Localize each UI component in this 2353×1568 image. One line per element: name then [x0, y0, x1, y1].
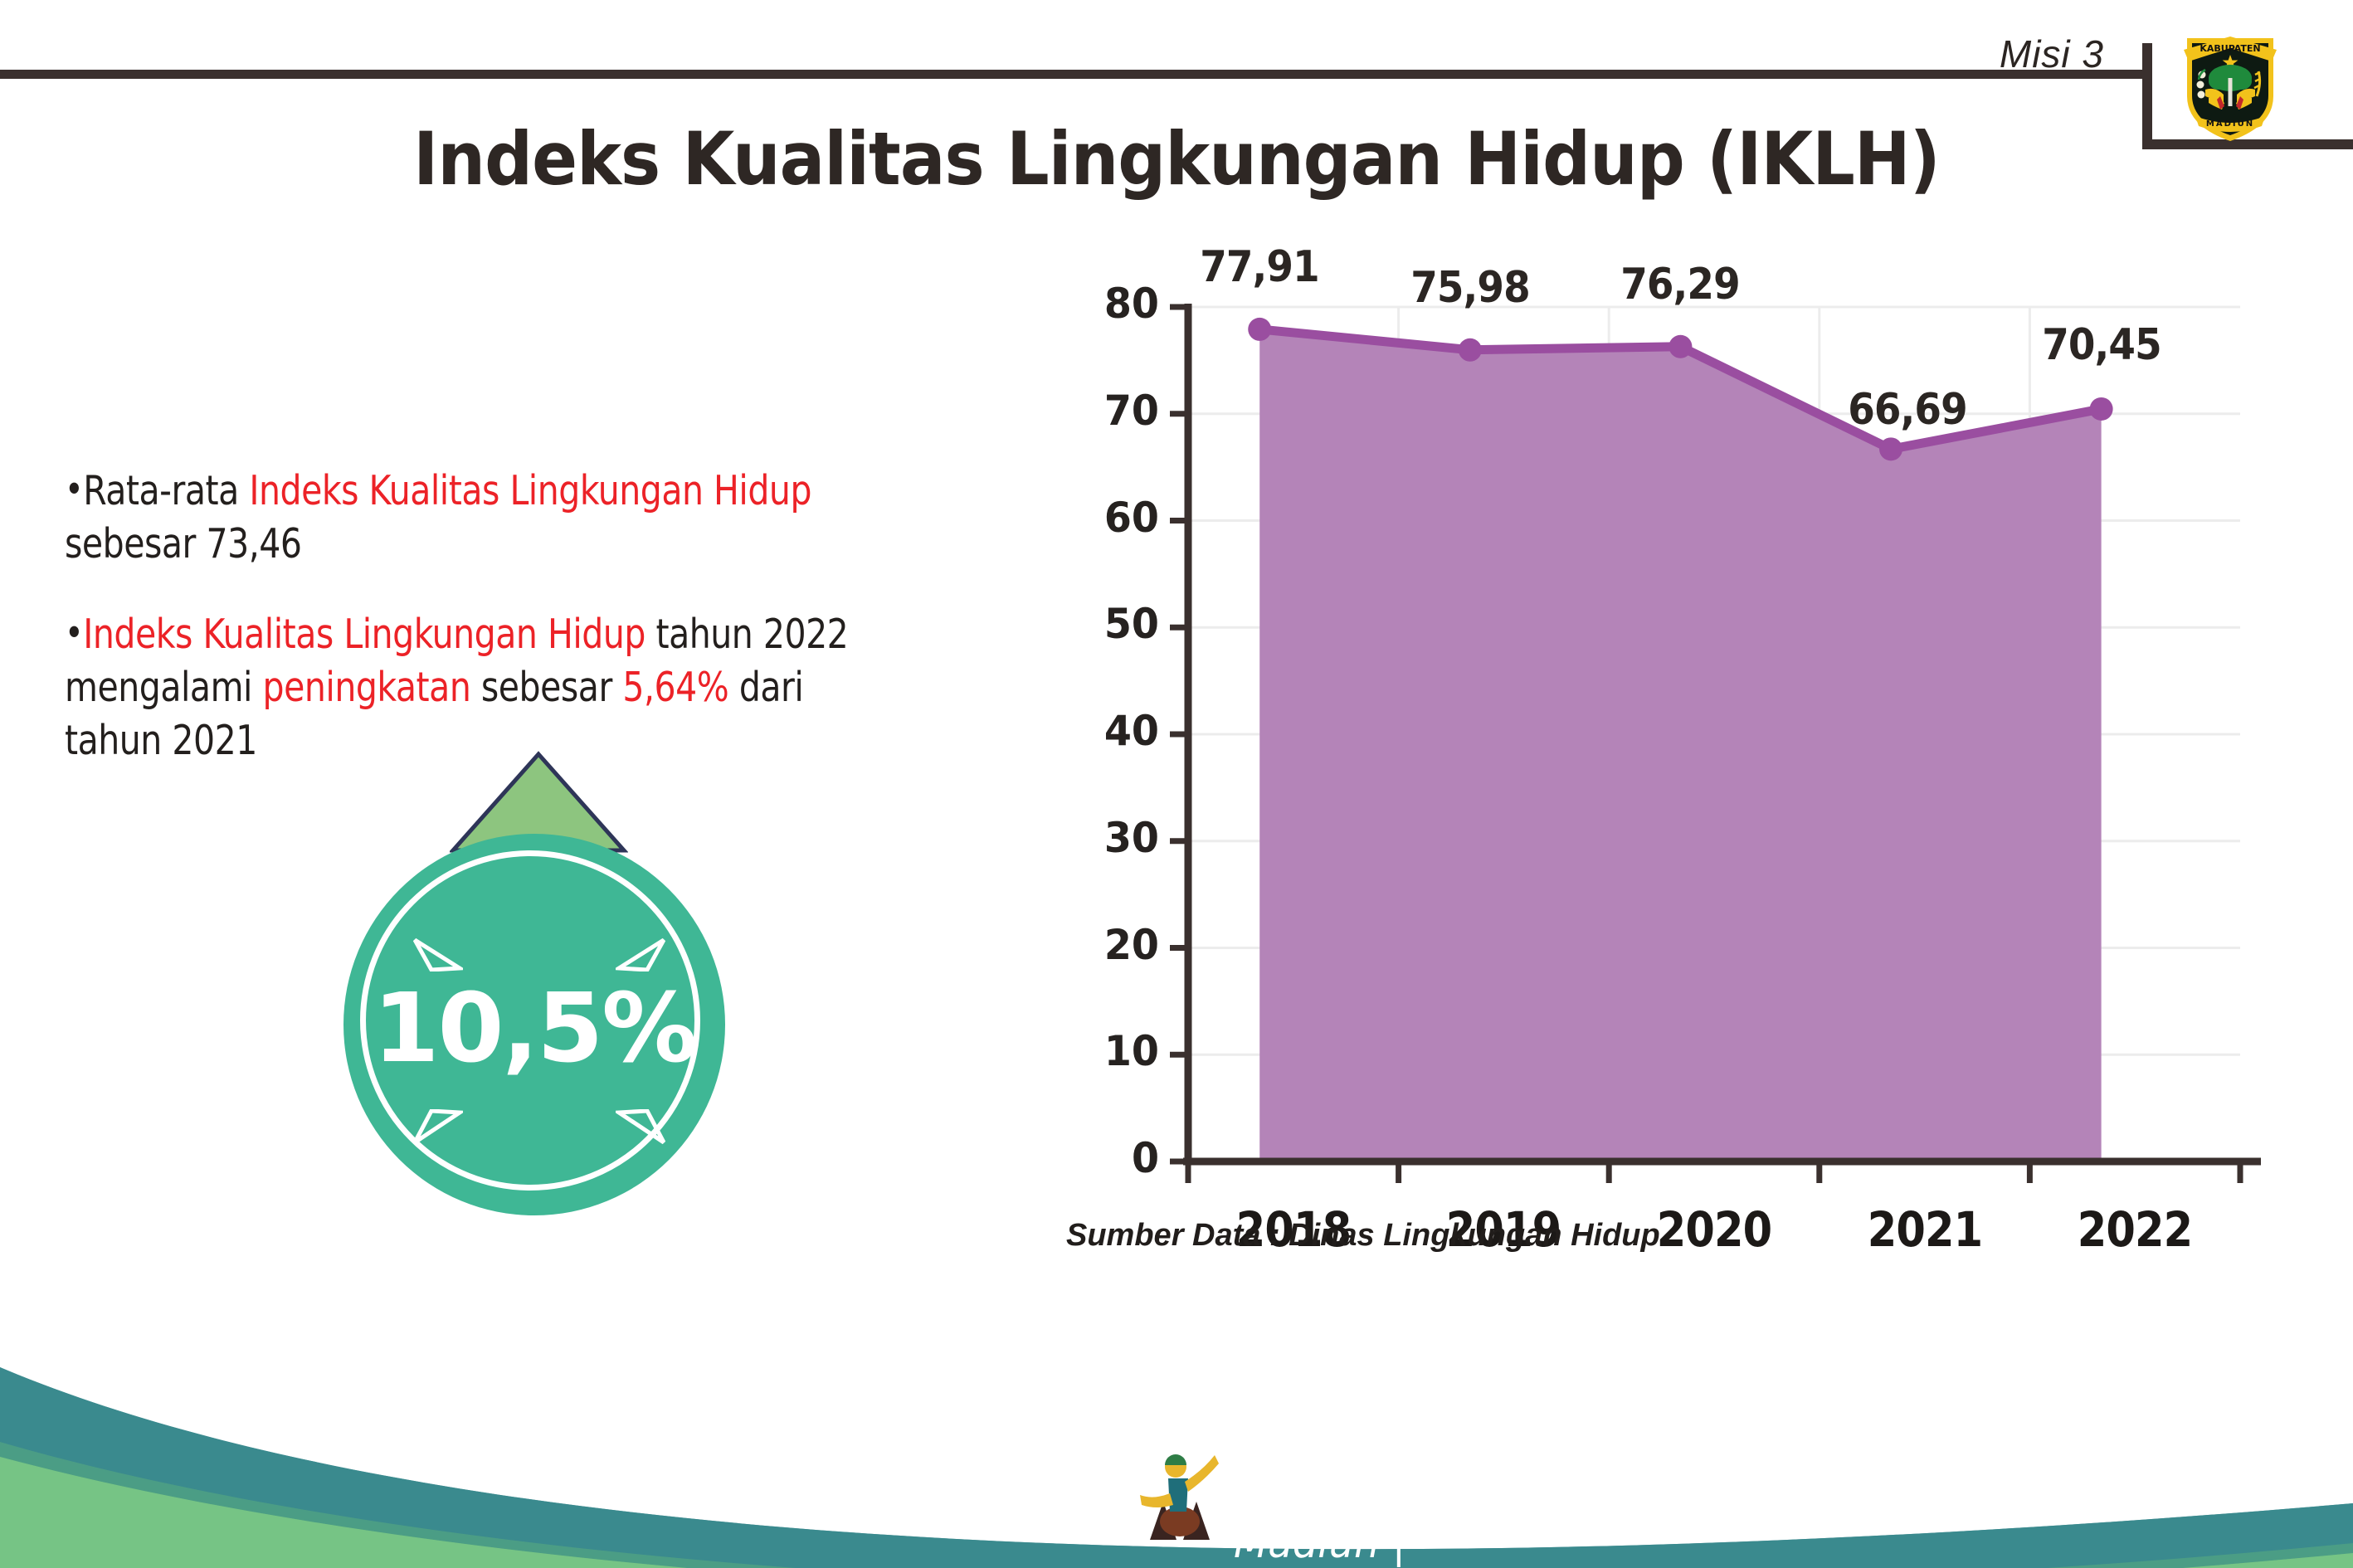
bullet-1-segment-4: 5,64% — [622, 664, 728, 711]
chart-canvas — [979, 299, 2273, 1278]
media-infografis-logo-icon — [1135, 1442, 1222, 1546]
data-label-2019: 75,98 — [1381, 263, 1560, 313]
y-tick-10: 10 — [1064, 1027, 1159, 1075]
bullet-1-segment-3: sebesar — [470, 664, 622, 711]
data-label-2020: 76,29 — [1591, 260, 1770, 309]
bullet-0-segment-2: sebesar 73,46 — [65, 520, 301, 567]
misi-label: Misi 3 — [2000, 32, 2104, 76]
bullet-0-segment-1: Indeks Kualitas Lingkungan Hidup — [249, 467, 811, 514]
page-title: Indeks Kualitas Lingkungan Hidup (IKLH) — [94, 116, 2258, 202]
y-tick-40: 40 — [1064, 707, 1159, 755]
y-tick-70: 70 — [1064, 387, 1159, 435]
iklh-area-chart: 01020304050607080 20182019202020212022 7… — [979, 299, 2273, 1278]
badge-corner-arrow-top-left — [413, 932, 463, 971]
data-label-2021: 66,69 — [1818, 385, 1997, 435]
x-tick-2022: 2022 — [2054, 1201, 2215, 1258]
y-tick-80: 80 — [1064, 280, 1159, 328]
y-tick-60: 60 — [1064, 494, 1159, 542]
y-tick-20: 20 — [1064, 921, 1159, 969]
bullet-marker: • — [65, 466, 83, 511]
svg-text:KABUPATEN: KABUPATEN — [2200, 43, 2260, 54]
badge-value: 10,5% — [343, 973, 725, 1084]
badge-corner-arrow-bottom-right — [616, 1109, 665, 1149]
header-rule — [0, 70, 2151, 79]
bullet-0-segment-0: Rata-rata — [83, 467, 249, 514]
increase-badge: 10,5% — [325, 751, 748, 1211]
data-label-2018: 77,91 — [1170, 242, 1349, 292]
bullet-text-1: Indeks Kualitas Lingkungan Hidup tahun 2… — [65, 611, 848, 763]
bullet-marker: • — [65, 611, 83, 655]
badge-corner-arrow-top-right — [616, 932, 665, 971]
bullet-1-segment-0: Indeks Kualitas Lingkungan Hidup — [83, 611, 645, 658]
footer-text: Media Infografis Data Statistik Sektoral… — [1234, 1471, 2308, 1567]
y-tick-50: 50 — [1064, 600, 1159, 648]
bullet-item-0: •Rata-rata Indeks Kualitas Lingkungan Hi… — [65, 465, 906, 570]
x-tick-2021: 2021 — [1844, 1201, 2005, 1258]
y-tick-0: 0 — [1064, 1134, 1159, 1182]
chart-source-note: Sumber Data : Dinas Lingkungan Hidup — [1066, 1218, 1660, 1254]
bullet-item-1: •Indeks Kualitas Lingkungan Hidup tahun … — [65, 608, 906, 767]
badge-corner-arrow-bottom-left — [413, 1109, 463, 1149]
data-label-2022: 70,45 — [2012, 320, 2191, 370]
bullet-text-0: Rata-rata Indeks Kualitas Lingkungan Hid… — [65, 467, 811, 567]
y-tick-30: 30 — [1064, 814, 1159, 862]
bullet-1-segment-2: peningkatan — [263, 664, 471, 711]
